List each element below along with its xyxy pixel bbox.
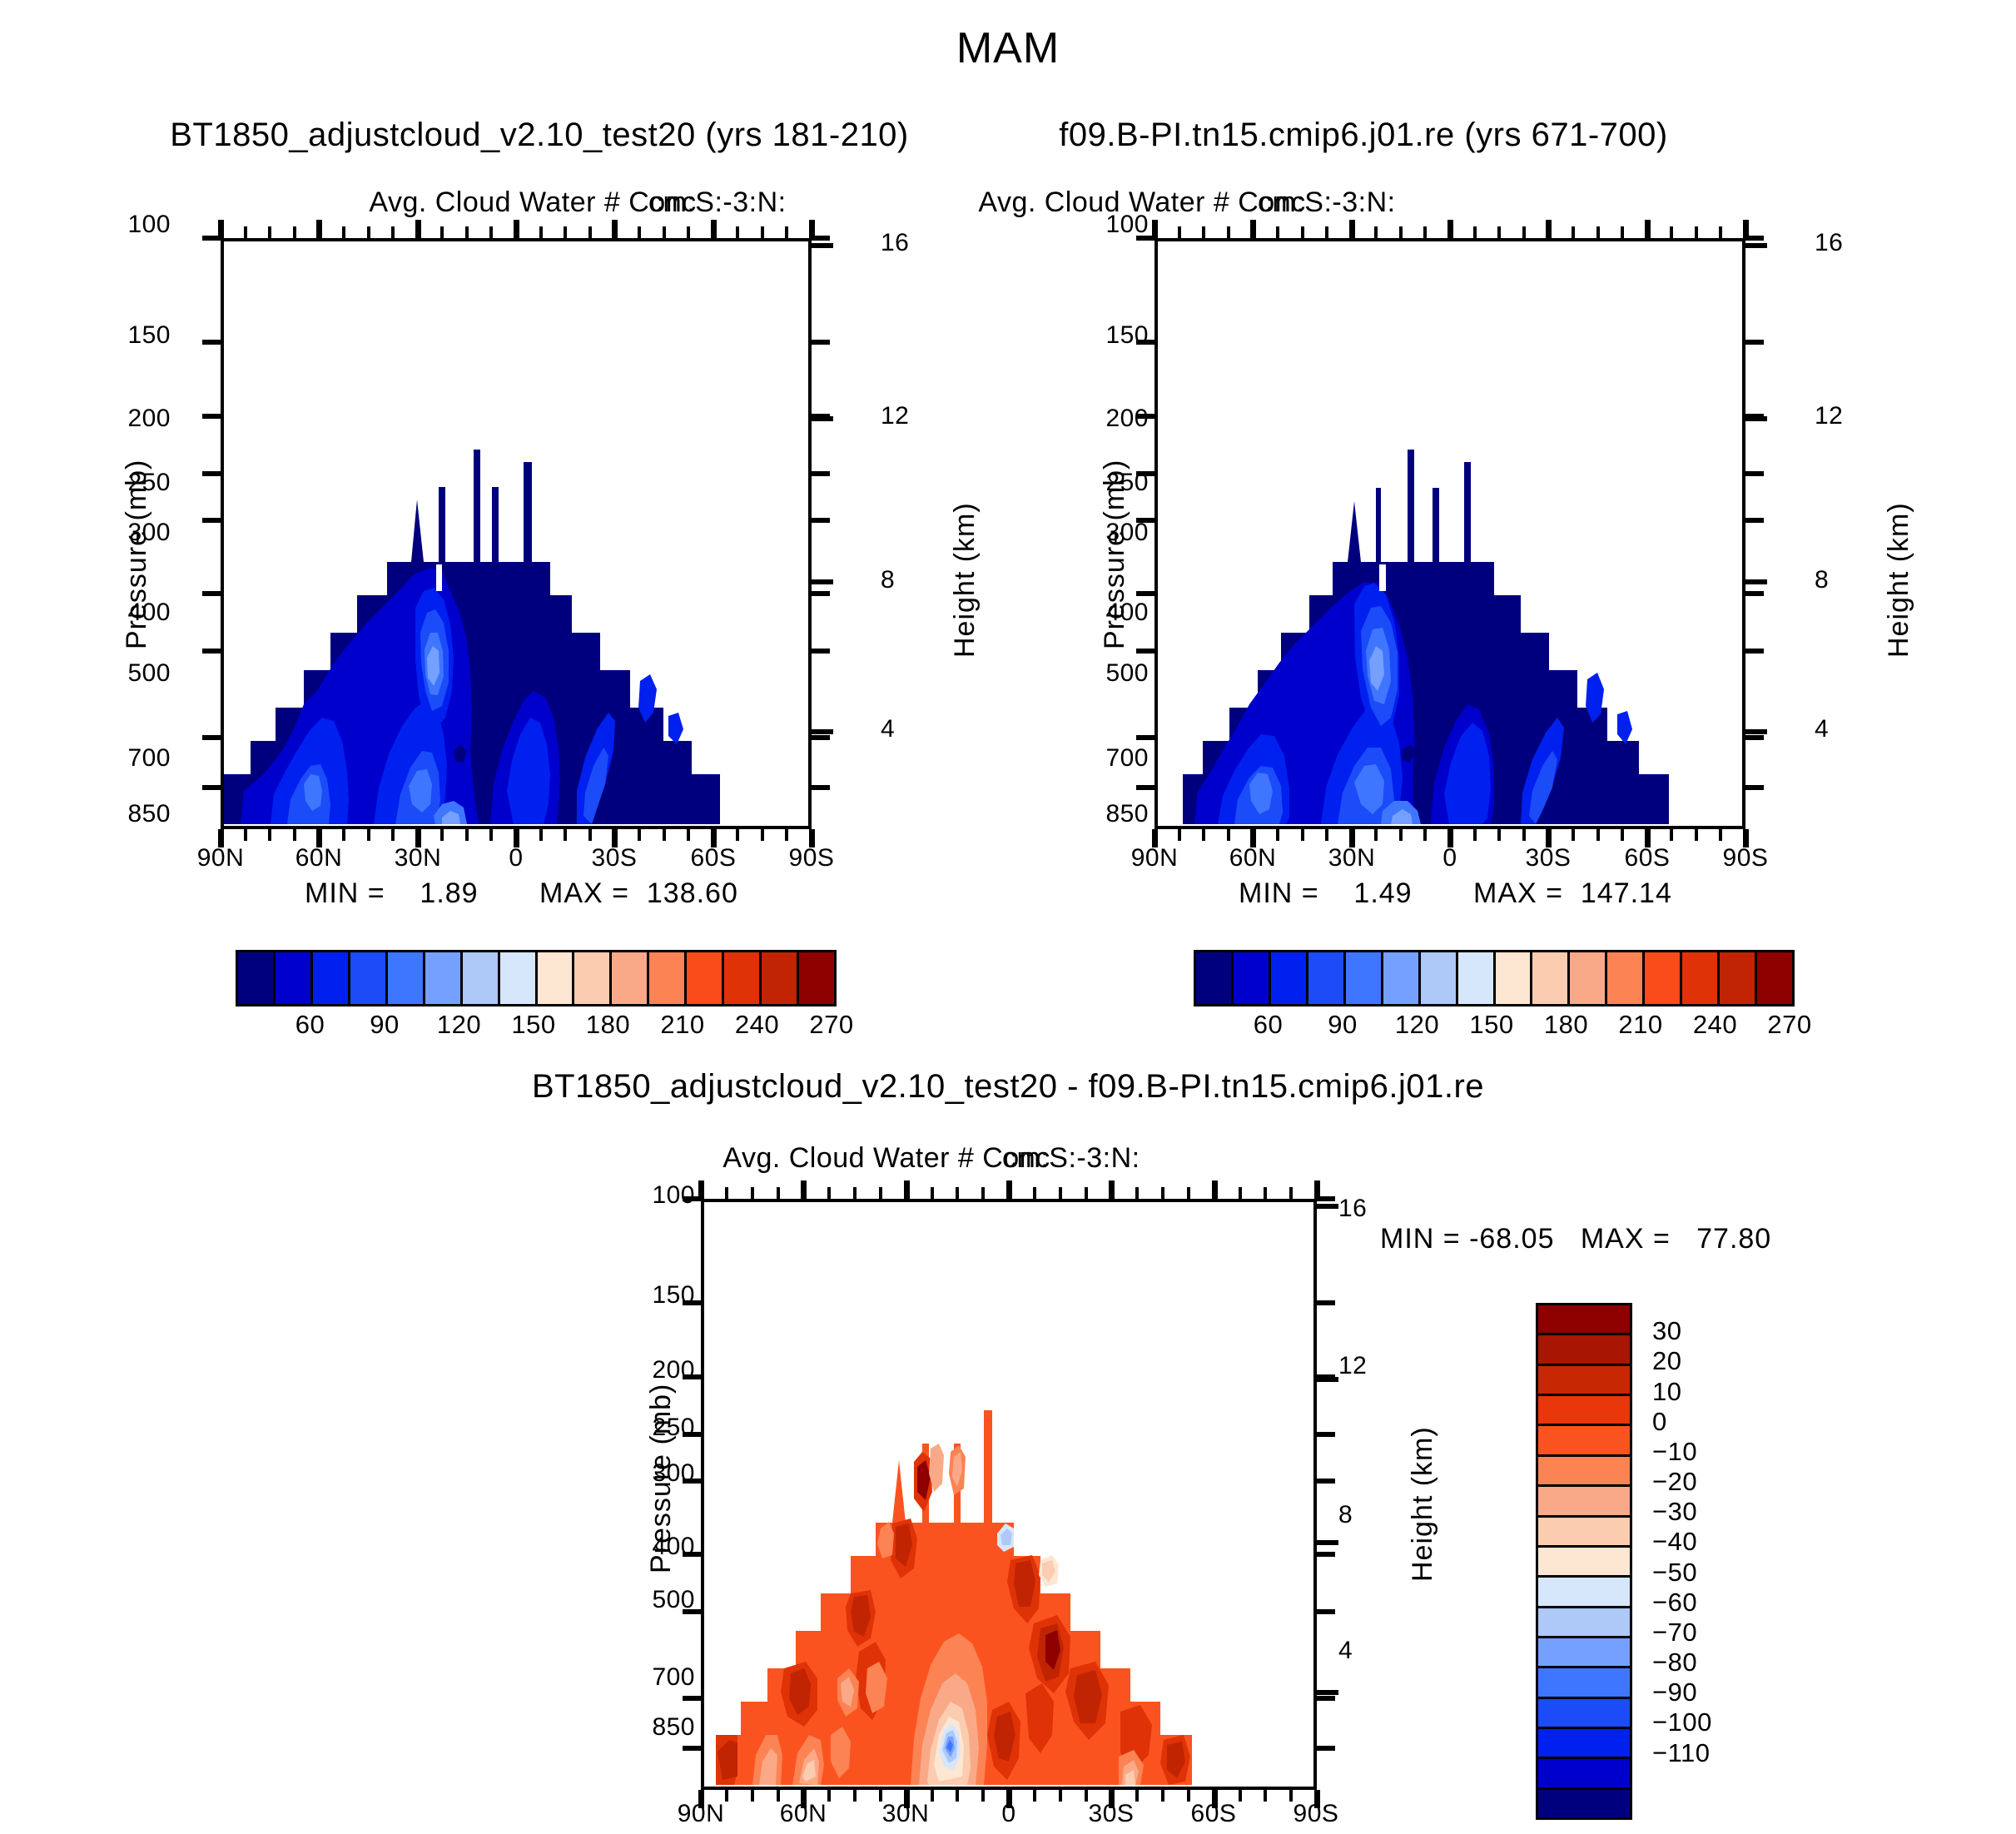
colorbar-tick-label: −100 <box>1652 1707 1712 1737</box>
axis-tick <box>1745 471 1764 476</box>
axis-tick <box>1374 829 1378 841</box>
axis-tick <box>588 226 592 238</box>
axis-tick <box>1497 226 1501 238</box>
colorbar-tick-label: 10 <box>1652 1377 1681 1407</box>
axis-tick <box>202 785 221 790</box>
left-ytick-100: 100 <box>127 211 171 239</box>
axis-tick <box>1399 226 1403 238</box>
colorbar-swatch <box>276 952 313 1004</box>
colorbar-swatch <box>500 952 538 1004</box>
axis-tick <box>202 518 221 523</box>
left-max-label: MAX = 138.60 <box>539 877 738 910</box>
diff-y2axis-title: Height (km) <box>1407 1426 1439 1582</box>
axis-tick <box>612 220 618 238</box>
colorbar-swatch <box>762 952 799 1004</box>
axis-tick <box>1670 829 1673 841</box>
axis-tick <box>1276 829 1279 841</box>
colorbar-swatch <box>1538 1396 1630 1426</box>
left-plot-frame[interactable] <box>221 238 812 829</box>
colorbar-tick-label: 150 <box>1469 1010 1513 1040</box>
axis-tick <box>1317 1196 1335 1201</box>
diff-xtick-90S: 90S <box>1294 1800 1339 1828</box>
right-ytick-200: 200 <box>1105 405 1149 433</box>
colorbar-swatch <box>1538 1729 1630 1759</box>
axis-tick <box>663 226 666 238</box>
axis-tick <box>202 735 221 740</box>
right-ytick-500: 500 <box>1105 659 1149 688</box>
axis-tick <box>1136 471 1154 476</box>
axis-tick <box>1250 220 1256 238</box>
axis-tick <box>1745 579 1767 584</box>
axis-tick <box>1317 1696 1335 1701</box>
axis-tick <box>1301 226 1304 238</box>
axis-tick <box>1317 1300 1335 1305</box>
axis-tick <box>1497 829 1501 841</box>
axis-tick <box>1187 1187 1190 1199</box>
left-htick-4: 4 <box>881 715 895 743</box>
colorbar-tick-label: 120 <box>437 1010 481 1040</box>
axis-tick <box>812 649 830 654</box>
axis-tick <box>785 829 788 841</box>
axis-tick <box>812 579 833 584</box>
axis-tick <box>785 226 788 238</box>
axis-tick <box>1136 236 1154 241</box>
axis-tick <box>202 236 221 241</box>
colorbar-swatch <box>1538 1668 1630 1698</box>
colorbar-tick-label: 180 <box>586 1010 630 1040</box>
colorbar-tick-label: −10 <box>1652 1437 1697 1467</box>
axis-tick <box>465 829 469 841</box>
axis-tick <box>683 1479 701 1484</box>
axis-tick <box>539 829 543 841</box>
axis-tick <box>736 829 739 841</box>
colorbar-tick-label: −50 <box>1652 1558 1697 1588</box>
diff-panel-region-label: cm:S:-3:N: <box>1002 1142 1140 1175</box>
colorbar-tick-label: 30 <box>1652 1316 1681 1346</box>
axis-tick <box>564 226 567 238</box>
axis-tick <box>415 220 421 238</box>
colorbar-tick-label: 270 <box>1767 1010 1811 1040</box>
right-xtick-30N: 30N <box>1328 844 1376 872</box>
axis-tick <box>1085 1790 1088 1802</box>
diff-plot-frame[interactable] <box>701 1199 1317 1790</box>
diff-yaxis-title: Pressure (mb) <box>645 1384 678 1573</box>
axis-tick <box>1317 1540 1338 1545</box>
colorbar-swatch <box>1496 952 1533 1004</box>
diff-panel-title: BT1850_adjustcloud_v2.10_test20 - f09.B-… <box>532 1068 1484 1106</box>
axis-tick <box>1289 1790 1293 1802</box>
axis-tick <box>1423 226 1427 238</box>
colorbar-swatch <box>1234 952 1271 1004</box>
axis-tick <box>683 1432 701 1437</box>
diff-contour-field <box>704 1202 1313 1787</box>
axis-tick <box>1572 226 1575 238</box>
colorbar-swatch <box>1538 1578 1630 1608</box>
right-ytick-150: 150 <box>1105 321 1149 350</box>
axis-tick <box>812 591 830 596</box>
left-panel-region-label: cm:S:-3:N: <box>648 186 787 219</box>
right-xtick-90S: 90S <box>1723 844 1769 872</box>
colorbar-tick-label: 210 <box>1618 1010 1662 1040</box>
axis-tick <box>1522 829 1526 841</box>
diff-htick-12: 12 <box>1338 1352 1367 1380</box>
colorbar-swatch <box>1538 1487 1630 1517</box>
right-xtick-0: 0 <box>1442 844 1457 872</box>
axis-tick <box>1059 1790 1062 1802</box>
diff-xtick-30S: 30S <box>1089 1800 1135 1828</box>
colorbar-tick-label: −30 <box>1652 1497 1697 1527</box>
colorbar-swatch <box>1538 1457 1630 1487</box>
axis-tick <box>956 1790 959 1802</box>
colorbar-swatch <box>1538 1518 1630 1548</box>
left-ytick-700: 700 <box>127 744 171 773</box>
axis-tick <box>853 1790 857 1802</box>
colorbar-swatch <box>1346 952 1383 1004</box>
axis-tick <box>1212 1180 1218 1199</box>
axis-tick <box>683 1196 701 1201</box>
axis-tick <box>1719 226 1722 238</box>
axis-tick <box>1317 1609 1335 1614</box>
axis-tick <box>812 236 830 241</box>
axis-tick <box>853 1187 857 1199</box>
diff-xtick-0: 0 <box>1001 1800 1015 1828</box>
right-htick-4: 4 <box>1815 715 1829 743</box>
axis-tick <box>202 591 221 596</box>
left-ytick-150: 150 <box>127 321 171 350</box>
axis-tick <box>1317 1432 1335 1437</box>
colorbar-tick-label: −90 <box>1652 1677 1697 1707</box>
axis-tick <box>1317 1552 1335 1557</box>
diff-xtick-60S: 60S <box>1191 1800 1237 1828</box>
axis-tick <box>1059 1187 1062 1199</box>
axis-tick <box>489 226 493 238</box>
colorbar-swatch <box>1538 1426 1630 1456</box>
colorbar-swatch <box>1383 952 1421 1004</box>
axis-tick <box>1239 1187 1242 1199</box>
axis-tick <box>1745 236 1764 241</box>
axis-tick <box>1317 1479 1335 1484</box>
axis-tick <box>827 1187 831 1199</box>
axis-tick <box>202 414 221 419</box>
axis-tick <box>683 1374 701 1379</box>
axis-tick <box>1136 649 1154 654</box>
colorbar-swatch <box>1538 1790 1630 1817</box>
colorbar-swatch <box>313 952 350 1004</box>
axis-tick <box>1745 729 1767 734</box>
left-plot-area <box>224 241 808 826</box>
axis-tick <box>1447 220 1453 238</box>
axis-tick <box>1135 1187 1139 1199</box>
axis-tick <box>440 226 444 238</box>
axis-tick <box>1621 226 1624 238</box>
figure-season-title: MAM <box>956 23 1060 73</box>
axis-tick <box>342 829 345 841</box>
right-htick-16: 16 <box>1815 229 1843 257</box>
right-ytick-850: 850 <box>1105 800 1149 828</box>
axis-tick <box>1264 1790 1267 1802</box>
axis-tick <box>1596 226 1600 238</box>
axis-tick <box>638 226 641 238</box>
colorbar-tick-label: 0 <box>1652 1407 1667 1437</box>
colorbar-swatch <box>724 952 762 1004</box>
axis-tick <box>761 829 764 841</box>
axis-tick <box>638 829 641 841</box>
diff-htick-16: 16 <box>1338 1195 1367 1223</box>
right-min-label: MIN = 1.49 <box>1239 877 1413 910</box>
axis-tick <box>761 226 764 238</box>
axis-tick <box>316 220 322 238</box>
right-plot-area <box>1158 241 1742 826</box>
left-min-label: MIN = 1.89 <box>305 877 479 910</box>
colorbar-tick-label: 90 <box>370 1010 399 1040</box>
axis-tick <box>1317 1204 1338 1209</box>
colorbar-swatch <box>1720 952 1757 1004</box>
right-xtick-60S: 60S <box>1625 844 1671 872</box>
right-htick-12: 12 <box>1815 402 1843 430</box>
axis-tick <box>1202 226 1205 238</box>
colorbar-swatch <box>687 952 724 1004</box>
colorbar-tick-label: −80 <box>1652 1648 1697 1677</box>
left-colorbar[interactable] <box>236 950 837 1006</box>
colorbar-tick-label: 270 <box>809 1010 853 1040</box>
colorbar-swatch <box>425 952 463 1004</box>
axis-tick <box>1136 518 1154 523</box>
axis-tick <box>777 1187 780 1199</box>
axis-tick <box>244 226 247 238</box>
colorbar-tick-label: −110 <box>1652 1738 1711 1768</box>
colorbar-swatch <box>238 952 276 1004</box>
axis-tick <box>588 829 592 841</box>
colorbar-swatch <box>1538 1699 1630 1729</box>
colorbar-tick-label: −70 <box>1652 1618 1697 1648</box>
diff-ytick-200: 200 <box>652 1356 695 1384</box>
colorbar-swatch <box>538 952 575 1004</box>
right-colorbar[interactable] <box>1194 950 1795 1006</box>
axis-tick <box>1621 829 1624 841</box>
colorbar-swatch <box>1538 1305 1630 1335</box>
axis-tick <box>1546 220 1552 238</box>
axis-tick <box>751 1790 754 1802</box>
colorbar-swatch <box>574 952 612 1004</box>
axis-tick <box>1239 1790 1242 1802</box>
axis-tick <box>812 518 830 523</box>
axis-tick <box>1033 1790 1036 1802</box>
axis-tick <box>1289 1187 1293 1199</box>
colorbar-tick-label: 60 <box>1254 1010 1283 1040</box>
colorbar-swatch <box>350 952 388 1004</box>
colorbar-tick-label: 240 <box>1693 1010 1737 1040</box>
colorbar-tick-label: 240 <box>735 1010 779 1040</box>
left-xtick-90S: 90S <box>789 844 835 872</box>
axis-tick <box>812 416 833 421</box>
colorbar-swatch <box>799 952 834 1004</box>
axis-tick <box>268 226 271 238</box>
axis-tick <box>1317 1746 1335 1751</box>
colorbar-tick-label: 150 <box>511 1010 555 1040</box>
axis-tick <box>268 829 271 841</box>
right-ytick-700: 700 <box>1105 744 1149 773</box>
axis-tick <box>1187 1790 1190 1802</box>
axis-tick <box>812 729 833 734</box>
colorbar-swatch <box>1421 952 1458 1004</box>
axis-tick <box>1276 226 1279 238</box>
axis-tick <box>711 220 717 238</box>
axis-tick <box>725 1187 728 1199</box>
colorbar-tick-label: −60 <box>1652 1588 1697 1618</box>
colorbar-swatch <box>1570 952 1607 1004</box>
left-yaxis-title: Pressure (mb) <box>121 460 153 649</box>
colorbar-tick-label: −20 <box>1652 1467 1697 1497</box>
axis-tick <box>465 226 469 238</box>
right-xtick-60N: 60N <box>1229 844 1277 872</box>
axis-tick <box>1136 735 1154 740</box>
left-htick-16: 16 <box>881 229 909 257</box>
axis-tick <box>1325 829 1328 841</box>
left-xtick-60N: 60N <box>295 844 343 872</box>
axis-tick <box>904 1180 910 1199</box>
right-yaxis-title: Pressure (mb) <box>1099 460 1131 649</box>
left-contour-field <box>224 241 808 826</box>
axis-tick <box>1109 1180 1115 1199</box>
colorbar-swatch <box>1757 952 1792 1004</box>
axis-tick <box>1695 829 1698 841</box>
axis-tick <box>981 1187 985 1199</box>
colorbar-swatch <box>1538 1548 1630 1578</box>
axis-tick <box>956 1187 959 1199</box>
axis-tick <box>202 649 221 654</box>
axis-tick <box>1178 829 1181 841</box>
colorbar-tick-label: −40 <box>1652 1527 1697 1557</box>
colorbar-swatch <box>388 952 425 1004</box>
axis-tick <box>293 226 296 238</box>
right-panel-region-label: cm:S:-3:N: <box>1258 186 1396 219</box>
colorbar-swatch <box>612 952 649 1004</box>
axis-tick <box>1423 829 1427 841</box>
axis-tick <box>1745 649 1764 654</box>
axis-tick <box>1745 785 1764 790</box>
colorbar-swatch <box>1196 952 1234 1004</box>
axis-tick <box>1033 1187 1036 1199</box>
axis-tick <box>1202 829 1205 841</box>
axis-tick <box>827 1790 831 1802</box>
left-ytick-500: 500 <box>127 659 171 688</box>
axis-tick <box>1374 226 1378 238</box>
axis-tick <box>1745 518 1764 523</box>
axis-tick <box>687 226 690 238</box>
axis-tick <box>1745 416 1767 421</box>
colorbar-swatch <box>1645 952 1682 1004</box>
axis-tick <box>1645 220 1651 238</box>
axis-tick <box>1136 340 1154 345</box>
axis-tick <box>367 829 370 841</box>
right-ytick-100: 100 <box>1105 211 1149 239</box>
axis-tick <box>879 1187 882 1199</box>
colorbar-swatch <box>1538 1638 1630 1668</box>
axis-tick <box>293 829 296 841</box>
right-contour-field <box>1158 241 1742 826</box>
axis-tick <box>202 340 221 345</box>
axis-tick <box>1178 226 1181 238</box>
axis-tick <box>489 829 493 841</box>
axis-tick <box>1325 226 1328 238</box>
axis-tick <box>1161 1790 1164 1802</box>
axis-tick <box>391 226 395 238</box>
right-max-label: MAX = 147.14 <box>1473 877 1672 910</box>
right-htick-8: 8 <box>1815 566 1829 594</box>
axis-tick <box>812 340 830 345</box>
axis-tick <box>1085 1187 1088 1199</box>
diff-minmax-label: MIN = -68.05 MAX = 77.80 <box>1380 1223 1771 1255</box>
left-panel-variable-label: Avg. Cloud Water # Conc <box>369 186 696 219</box>
left-xtick-90N: 90N <box>197 844 245 872</box>
axis-tick <box>1399 829 1403 841</box>
left-xtick-30S: 30S <box>592 844 638 872</box>
axis-tick <box>1473 226 1477 238</box>
axis-tick <box>539 226 543 238</box>
colorbar-swatch <box>1538 1608 1630 1638</box>
colorbar-swatch <box>1538 1335 1630 1365</box>
axis-tick <box>1227 226 1230 238</box>
colorbar-swatch <box>1458 952 1496 1004</box>
left-htick-8: 8 <box>881 566 895 594</box>
diff-htick-4: 4 <box>1338 1637 1353 1665</box>
left-htick-12: 12 <box>881 402 909 430</box>
colorbar-swatch <box>1271 952 1308 1004</box>
axis-tick <box>1264 1187 1267 1199</box>
axis-tick <box>801 1180 807 1199</box>
axis-tick <box>1522 226 1526 238</box>
colorbar-tick-label: 210 <box>660 1010 704 1040</box>
colorbar-tick-label: 90 <box>1328 1010 1357 1040</box>
left-ytick-200: 200 <box>127 405 171 433</box>
left-panel-title: BT1850_adjustcloud_v2.10_test20 (yrs 181… <box>170 117 909 154</box>
axis-tick <box>683 1552 701 1557</box>
axis-tick <box>981 1790 985 1802</box>
axis-tick <box>736 226 739 238</box>
diff-xtick-90N: 90N <box>678 1800 725 1828</box>
axis-tick <box>1161 1187 1164 1199</box>
right-plot-frame[interactable] <box>1154 238 1745 829</box>
axis-tick <box>1745 340 1764 345</box>
diff-xtick-30N: 30N <box>882 1800 930 1828</box>
axis-tick <box>1745 735 1764 740</box>
axis-tick <box>1473 829 1477 841</box>
diff-panel-variable-label: Avg. Cloud Water # Conc <box>722 1142 1050 1175</box>
axis-tick <box>564 829 567 841</box>
colorbar-swatch <box>1682 952 1720 1004</box>
axis-tick <box>931 1790 934 1802</box>
axis-tick <box>1317 1377 1338 1382</box>
axis-tick <box>1006 1180 1012 1199</box>
axis-tick <box>342 226 345 238</box>
axis-tick <box>440 829 444 841</box>
diff-colorbar[interactable] <box>1536 1303 1632 1820</box>
diff-ytick-700: 700 <box>652 1663 695 1692</box>
left-xtick-30N: 30N <box>395 844 442 872</box>
colorbar-swatch <box>463 952 500 1004</box>
axis-tick <box>812 735 830 740</box>
colorbar-tick-label: 60 <box>295 1010 325 1040</box>
colorbar-tick-label: 120 <box>1395 1010 1439 1040</box>
axis-tick <box>1349 220 1355 238</box>
right-xtick-30S: 30S <box>1526 844 1572 872</box>
axis-tick <box>725 1790 728 1802</box>
axis-tick <box>1136 414 1154 419</box>
axis-tick <box>683 1300 701 1305</box>
axis-tick <box>1317 1690 1338 1695</box>
axis-tick <box>1136 785 1154 790</box>
axis-tick <box>931 1187 934 1199</box>
